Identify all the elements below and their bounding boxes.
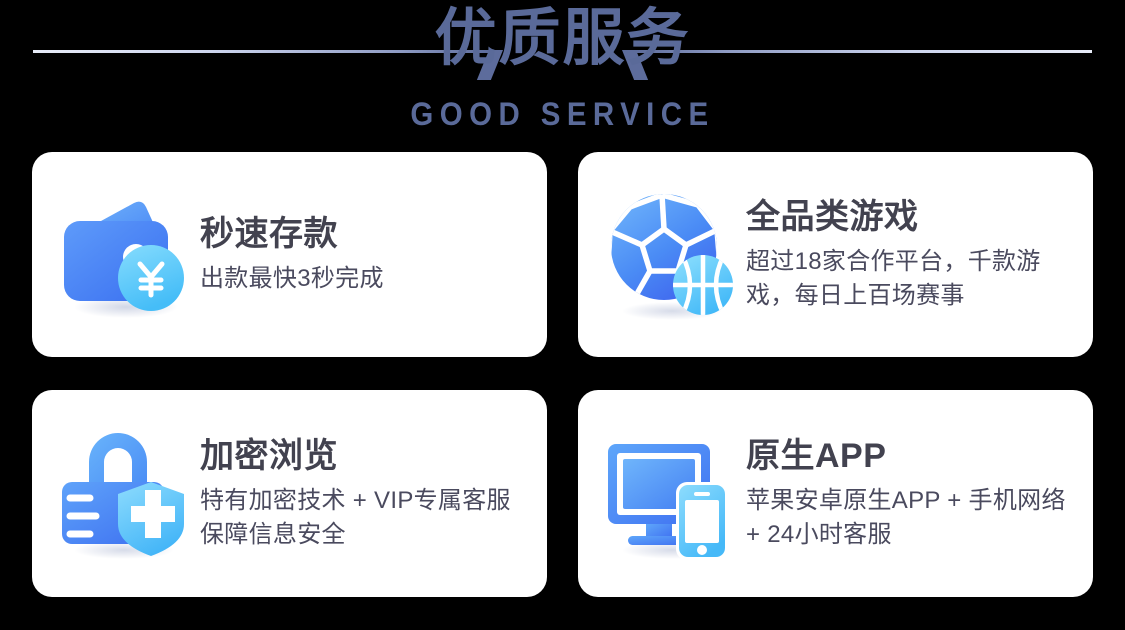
- feature-card-text: 秒速存款 出款最快3秒完成: [196, 213, 529, 297]
- page-title: 优质服务: [0, 6, 1125, 71]
- feature-card-text: 原生APP 苹果安卓原生APP + 手机网络 + 24小时客服: [742, 435, 1075, 553]
- feature-card-desc: 苹果安卓原生APP + 手机网络 + 24小时客服: [746, 484, 1075, 552]
- feature-card-title: 加密浏览: [200, 435, 529, 478]
- feature-card-deposit[interactable]: 秒速存款 出款最快3秒完成: [32, 152, 547, 357]
- feature-card-title: 全品类游戏: [746, 196, 1075, 239]
- feature-card-encryption[interactable]: 加密浏览 特有加密技术 + VIP专属客服保障信息安全: [32, 390, 547, 597]
- wallet-yuan-icon: [56, 185, 196, 325]
- feature-card-text: 全品类游戏 超过18家合作平台，千款游戏，每日上百场赛事: [742, 196, 1075, 314]
- feature-card-native-app[interactable]: 原生APP 苹果安卓原生APP + 手机网络 + 24小时客服: [578, 390, 1093, 597]
- feature-card-desc: 特有加密技术 + VIP专属客服保障信息安全: [200, 484, 529, 552]
- lock-shield-icon: [56, 424, 196, 564]
- feature-card-desc: 超过18家合作平台，千款游戏，每日上百场赛事: [746, 245, 1075, 313]
- soccer-basketball-icon: [602, 185, 742, 325]
- feature-card-games[interactable]: 全品类游戏 超过18家合作平台，千款游戏，每日上百场赛事: [578, 152, 1093, 357]
- feature-card-desc: 出款最快3秒完成: [200, 262, 529, 296]
- page-header: 优质服务 GOOD SERVICE: [0, 0, 1125, 150]
- page-subtitle: GOOD SERVICE: [45, 96, 1080, 133]
- feature-card-title: 原生APP: [746, 435, 1075, 478]
- feature-card-grid: 秒速存款 出款最快3秒完成: [32, 152, 1093, 597]
- feature-card-title: 秒速存款: [200, 213, 529, 256]
- monitor-phone-icon: [602, 424, 742, 564]
- feature-card-text: 加密浏览 特有加密技术 + VIP专属客服保障信息安全: [196, 435, 529, 553]
